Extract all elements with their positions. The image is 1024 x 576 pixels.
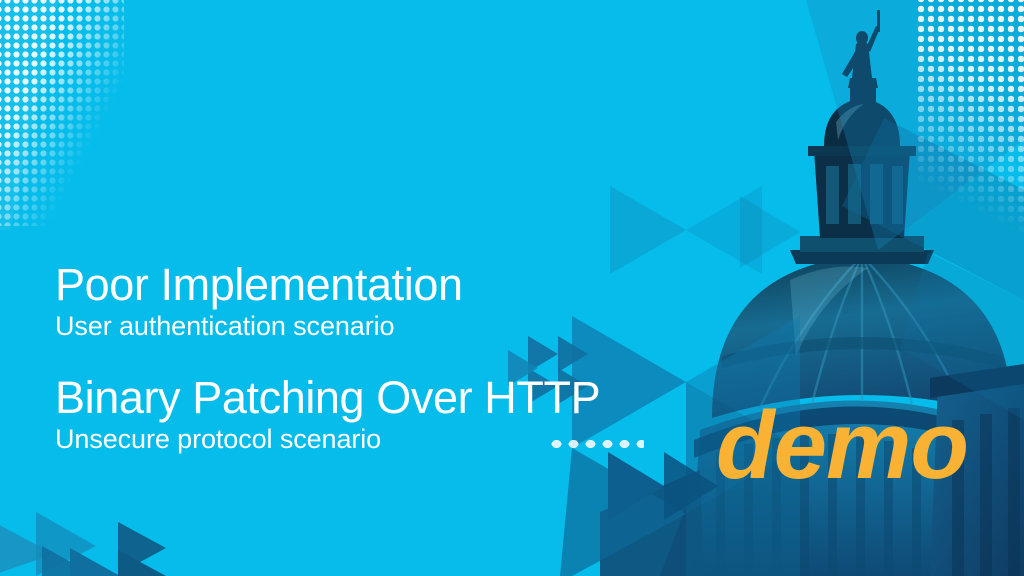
- topic-group-1: Poor Implementation User authentication …: [55, 262, 695, 341]
- halftone-top-left-icon: [0, 0, 124, 226]
- headline-binary-patching-over-http: Binary Patching Over HTTP: [55, 375, 695, 422]
- dome-statue: [842, 10, 880, 88]
- subline-user-authentication-scenario: User authentication scenario: [55, 311, 695, 341]
- diagonal-bands: [806, 0, 1024, 420]
- top-left-wedge: [0, 0, 58, 230]
- triangle-cluster-bottom-left: [0, 512, 166, 576]
- demo-wordmark: demo: [716, 398, 968, 494]
- headline-poor-implementation: Poor Implementation: [55, 262, 695, 309]
- topic-group-2: Binary Patching Over HTTP Unsecure proto…: [55, 375, 695, 454]
- slide-text-block: Poor Implementation User authentication …: [55, 262, 695, 454]
- subline-unsecure-protocol-scenario: Unsecure protocol scenario: [55, 424, 695, 454]
- halftone-top-right-icon: [916, 0, 1024, 244]
- presentation-slide: Poor Implementation User authentication …: [0, 0, 1024, 576]
